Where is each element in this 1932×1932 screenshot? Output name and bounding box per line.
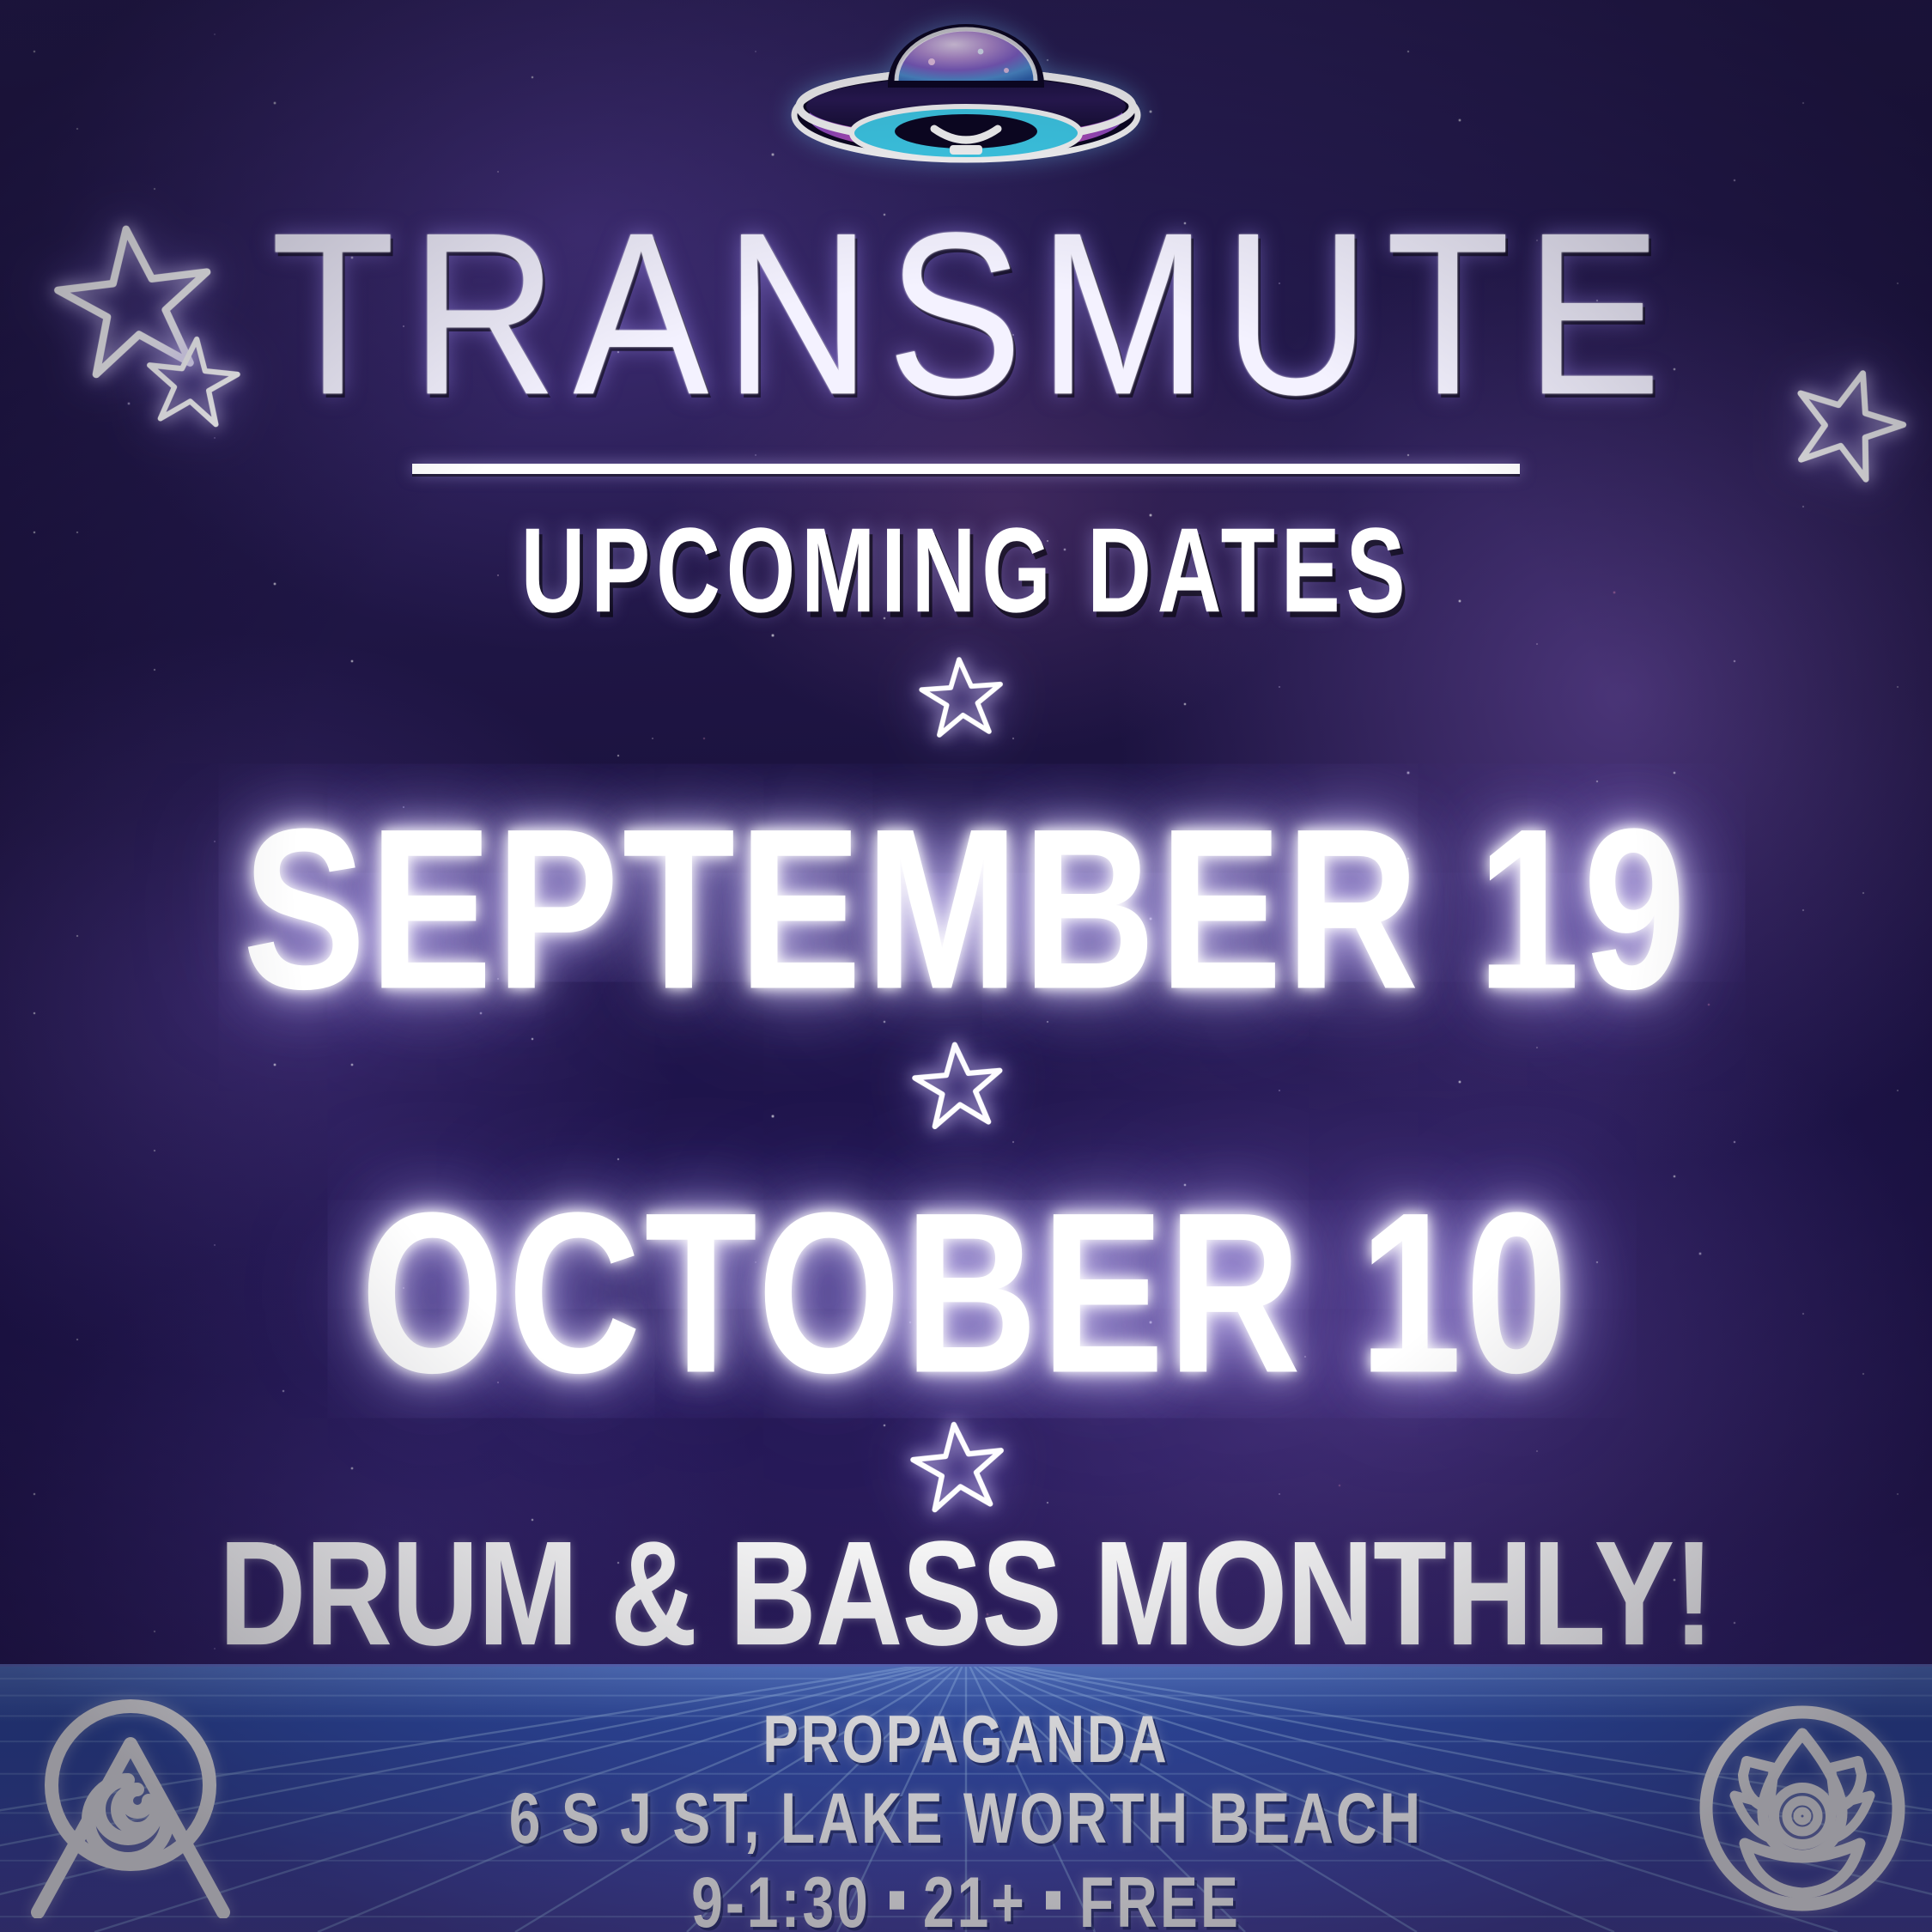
event-flyer: TRANSMUTE UPCOMING DATES SEPTEMBER 19 OC… (0, 0, 1932, 1932)
title-divider (412, 464, 1520, 474)
event-date-2: OCTOBER 10 (0, 1161, 1932, 1425)
event-tagline: DRUM & BASS MONTHLY! (9, 1520, 1923, 1668)
square-bullet-icon (890, 1892, 904, 1910)
square-bullet-icon (1046, 1892, 1060, 1910)
venue-address: 6 S J ST, LAKE WORTH BEACH (0, 1772, 1932, 1863)
spiral-a-logo-icon (19, 1691, 242, 1918)
footer-info: PROPAGANDA 6 S J ST, LAKE WORTH BEACH 9-… (0, 1704, 1932, 1929)
lotus-eye-logo-icon (1695, 1699, 1910, 1918)
event-age-limit: 21+ (923, 1862, 1027, 1932)
venue-name: PROPAGANDA (0, 1704, 1932, 1777)
star-outline-icon (916, 652, 1008, 744)
event-price: FREE (1079, 1862, 1241, 1932)
title-block: TRANSMUTE UPCOMING DATES (0, 199, 1932, 603)
page-subtitle: UPCOMING DATES (39, 510, 1893, 630)
venue-details: 9-1:3021+FREE (0, 1856, 1932, 1932)
event-date-1: SEPTEMBER 19 (0, 777, 1932, 1042)
footer-bar: PROPAGANDA 6 S J ST, LAKE WORTH BEACH 9-… (0, 1664, 1932, 1932)
page-title: TRANSMUTE (0, 199, 1932, 430)
star-outline-icon (908, 1035, 1008, 1135)
star-outline-icon (905, 1413, 1011, 1519)
event-time: 9-1:30 (691, 1862, 871, 1932)
ufo-icon (781, 21, 1151, 205)
